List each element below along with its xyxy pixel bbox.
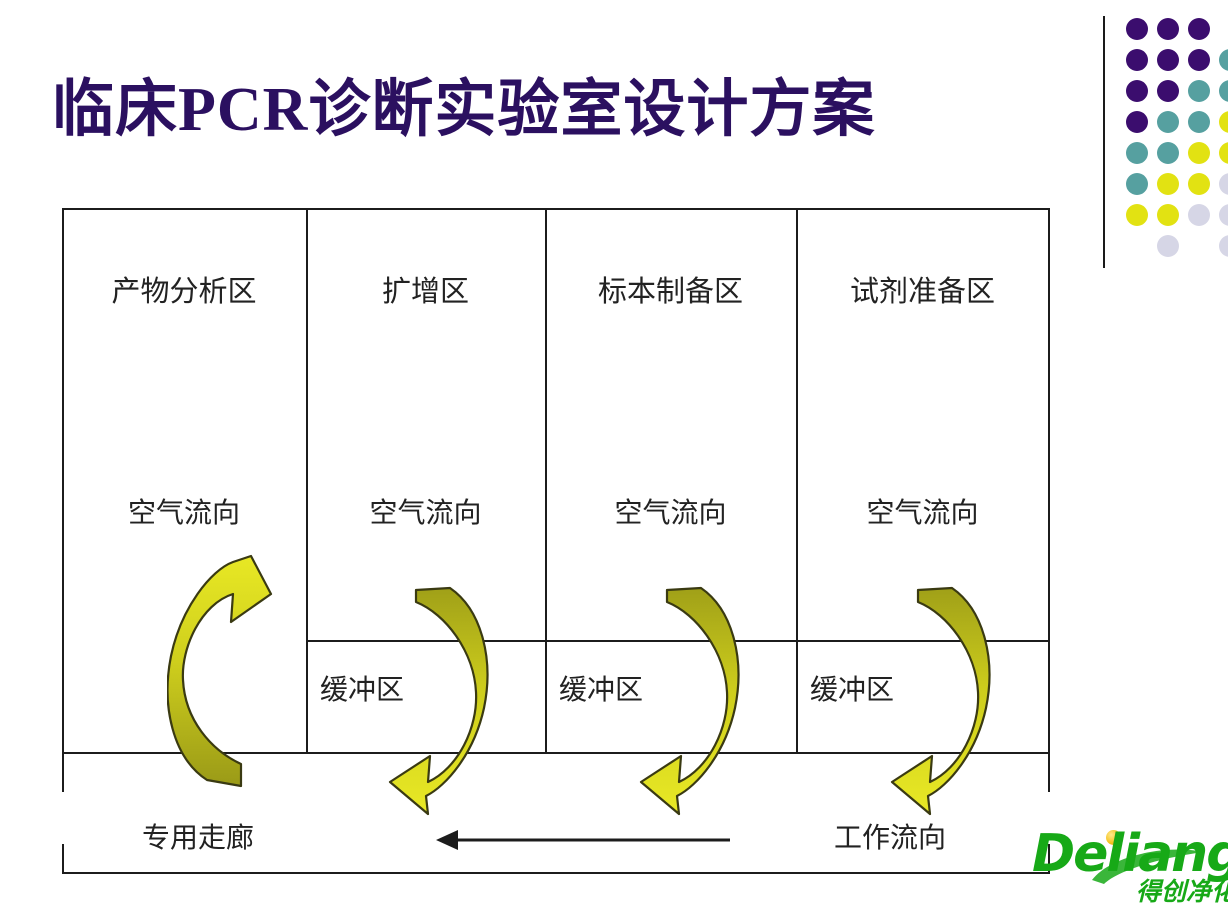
decorative-dot (1188, 173, 1210, 195)
airflow-arrow-down-reagent-preparation (886, 586, 996, 816)
workflow-direction-arrow (434, 828, 734, 852)
decorative-dot (1188, 204, 1210, 226)
decorative-dot (1157, 49, 1179, 71)
decorative-dot (1219, 235, 1228, 257)
decorative-dot (1126, 173, 1148, 195)
dot-grid-decoration (1096, 10, 1228, 268)
decorative-dot (1157, 142, 1179, 164)
decorative-dot (1219, 173, 1228, 195)
buffer-top-line-amplification (306, 640, 546, 642)
corridor-label: 专用走廊 (142, 816, 254, 856)
airflow-label-reagent-preparation: 空气流向 (796, 491, 1049, 531)
decorative-dot (1188, 80, 1210, 102)
corridor-top-line (62, 752, 1050, 754)
dot-grid (1126, 18, 1228, 266)
buffer-label-reagent-preparation: 缓冲区 (810, 668, 894, 708)
workflow-direction-label: 工作流向 (834, 816, 946, 856)
decorative-dot (1126, 49, 1148, 71)
decorative-dot (1157, 111, 1179, 133)
airflow-label-specimen-preparation: 空气流向 (545, 491, 796, 531)
decorative-dot (1188, 142, 1210, 164)
frame-left-border-lower (62, 752, 64, 792)
decorative-dot (1157, 235, 1179, 257)
decorative-dot (1219, 80, 1228, 102)
decorative-dot (1219, 111, 1228, 133)
decorative-dot (1126, 142, 1148, 164)
decorative-dot (1126, 111, 1148, 133)
decorative-dot (1126, 18, 1148, 40)
corridor-bottom-border (62, 872, 1050, 874)
decorative-dot (1157, 204, 1179, 226)
brand-logo: Deliang 得创净化 (1032, 824, 1228, 910)
decorative-dot (1188, 49, 1210, 71)
airflow-label-amplification: 空气流向 (306, 491, 545, 531)
decorative-dot (1157, 18, 1179, 40)
logo-subtext: 得创净化 (1136, 880, 1228, 905)
decorative-dot (1219, 49, 1228, 71)
buffer-label-specimen-preparation: 缓冲区 (559, 668, 643, 708)
decorative-dot (1188, 18, 1210, 40)
frame-right-border-lower (1048, 752, 1050, 792)
logo-wordmark: Deliang (1032, 828, 1228, 880)
decorative-dot (1126, 80, 1148, 102)
frame-top-border (62, 208, 1050, 210)
decorative-dot (1126, 204, 1148, 226)
zone-label-reagent-preparation: 试剂准备区 (796, 268, 1049, 310)
buffer-label-amplification: 缓冲区 (320, 668, 404, 708)
airflow-label-product-analysis: 空气流向 (62, 491, 306, 531)
corridor-left-border (62, 844, 64, 874)
zone-label-amplification: 扩增区 (306, 268, 545, 310)
airflow-arrow-up-product-analysis (167, 538, 277, 788)
decorative-dot (1157, 80, 1179, 102)
zone-label-specimen-preparation: 标本制备区 (545, 268, 796, 310)
decorative-dot (1219, 142, 1228, 164)
buffer-top-line-specimen (545, 640, 797, 642)
buffer-top-line-reagent (796, 640, 1049, 642)
pcr-laboratory-layout-diagram: 产物分析区 扩增区 标本制备区 试剂准备区 空气流向 空气流向 空气流向 空气流… (62, 208, 1050, 876)
airflow-arrow-down-specimen-preparation (635, 586, 745, 816)
decorative-dot (1188, 111, 1210, 133)
decorative-dot (1157, 173, 1179, 195)
vertical-rule (1103, 16, 1105, 268)
decorative-dot (1219, 204, 1228, 226)
zone-label-product-analysis: 产物分析区 (62, 268, 306, 310)
page-title: 临床PCR诊断实验室设计方案 (52, 78, 875, 143)
